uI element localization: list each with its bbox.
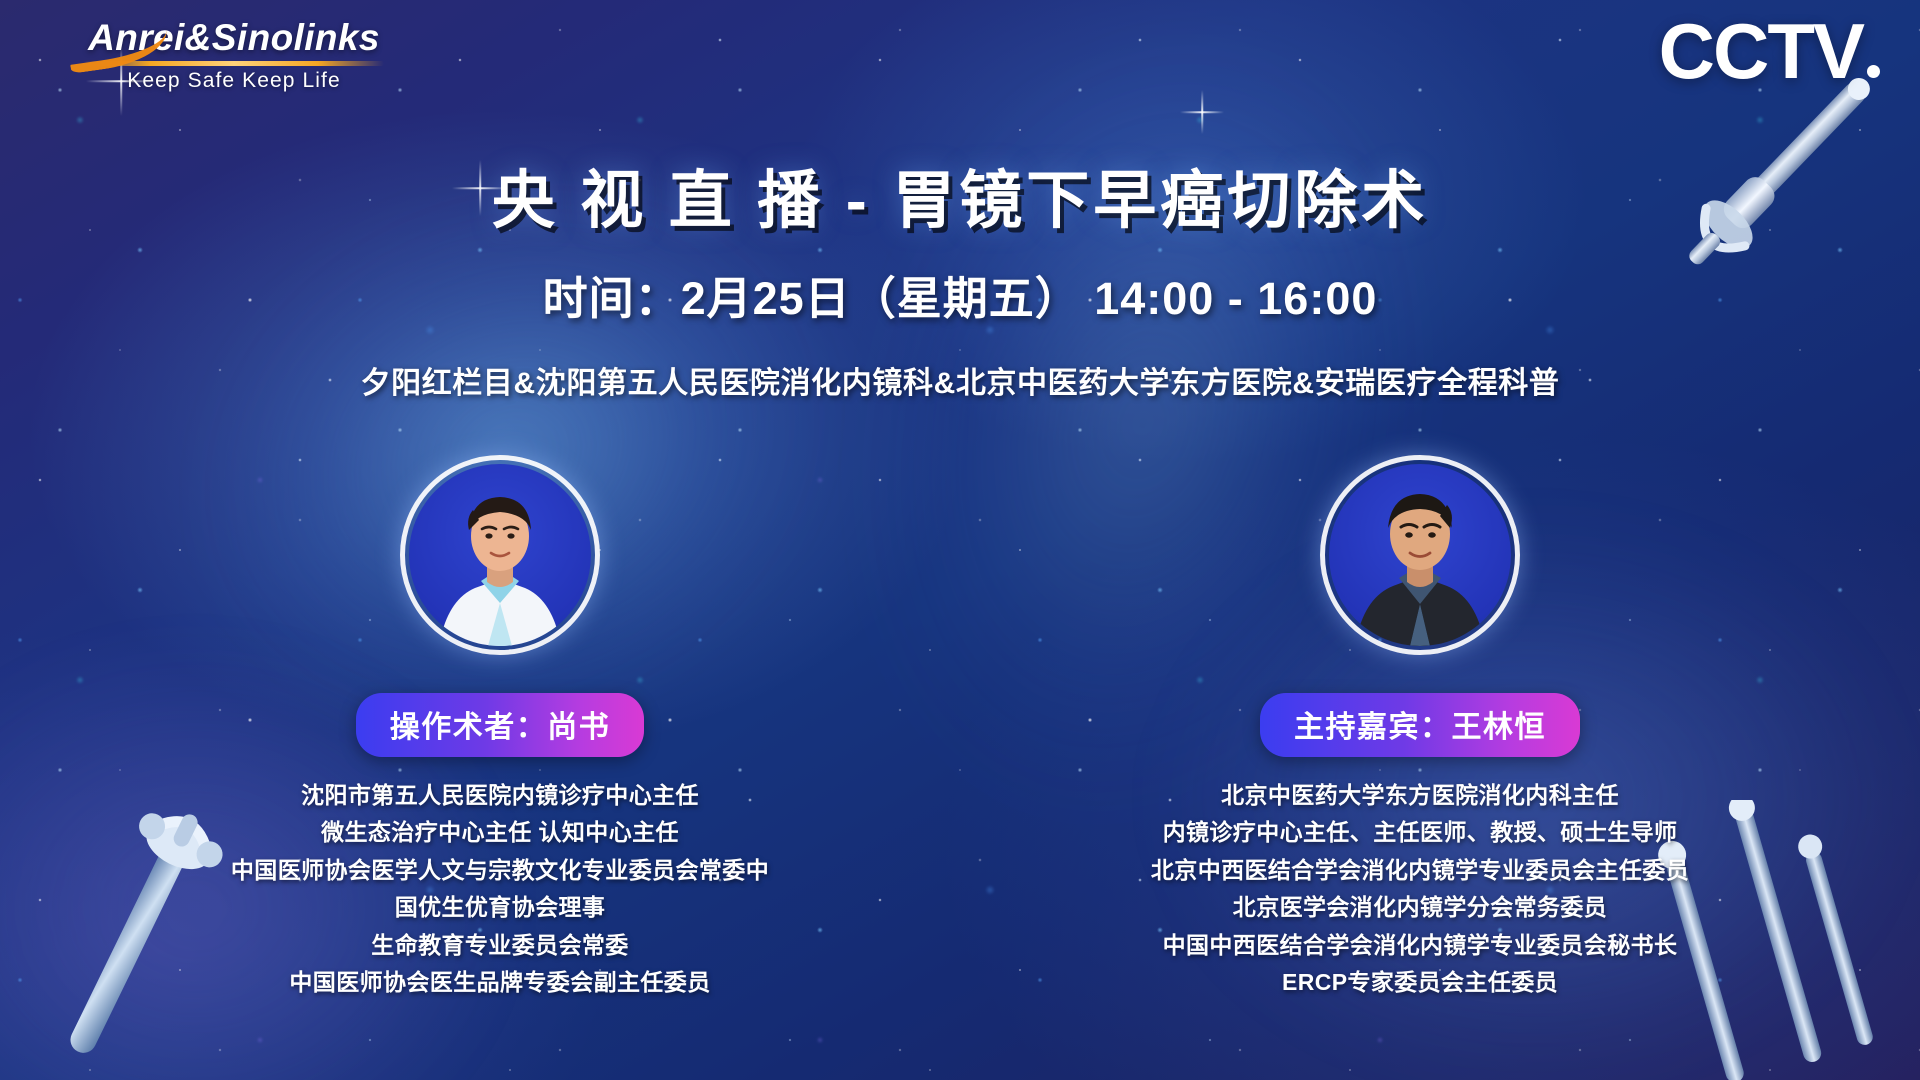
- avatar-photo-operator: [409, 464, 591, 646]
- credential-line: 国优生优育协会理事: [231, 889, 769, 926]
- event-datetime: 时间：2月25日（星期五） 14:00 - 16:00: [0, 262, 1920, 327]
- brand-logo: Anrei&Sinolinks Keep Safe Keep Life: [74, 18, 394, 93]
- credential-line: 微生态治疗中心主任 认知中心主任: [231, 814, 769, 851]
- speaker-card-operator: 操作术者：尚书 沈阳市第五人民医院内镜诊疗中心主任 微生态治疗中心主任 认知中心…: [285, 455, 715, 1002]
- cctv-logo-text: CCTV: [1659, 7, 1863, 95]
- credential-line: 内镜诊疗中心主任、主任医师、教授、硕士生导师: [1151, 814, 1689, 851]
- speakers-section: 操作术者：尚书 沈阳市第五人民医院内镜诊疗中心主任 微生态治疗中心主任 认知中心…: [0, 455, 1920, 1002]
- credentials-operator: 沈阳市第五人民医院内镜诊疗中心主任 微生态治疗中心主任 认知中心主任 中国医师协…: [231, 777, 769, 1002]
- credential-line: 中国医师协会医学人文与宗教文化专业委员会常委中: [231, 852, 769, 889]
- credential-line: 北京医学会消化内镜学分会常务委员: [1151, 889, 1689, 926]
- brand-name: Anrei&Sinolinks: [74, 18, 394, 57]
- cctv-logo: CCTV: [1659, 12, 1880, 90]
- credential-line: 北京中西医结合学会消化内镜学专业委员会主任委员: [1151, 852, 1689, 889]
- speaker-badge-host: 主持嘉宾：王林恒: [1260, 693, 1580, 757]
- credential-line: 生命教育专业委员会常委: [231, 927, 769, 964]
- page-title: 央 视 直 播 - 胃镜下早癌切除术: [0, 150, 1920, 241]
- brand-tagline: Keep Safe Keep Life: [74, 69, 394, 93]
- avatar-photo-host: [1329, 464, 1511, 646]
- speaker-card-host: 主持嘉宾：王林恒 北京中医药大学东方医院消化内科主任 内镜诊疗中心主任、主任医师…: [1205, 455, 1635, 1002]
- sparkle-star-icon: [1180, 90, 1224, 134]
- credential-line: 沈阳市第五人民医院内镜诊疗中心主任: [231, 777, 769, 814]
- credential-line: 中国中西医结合学会消化内镜学专业委员会秘书长: [1151, 927, 1689, 964]
- credentials-host: 北京中医药大学东方医院消化内科主任 内镜诊疗中心主任、主任医师、教授、硕士生导师…: [1151, 777, 1689, 1002]
- credential-line: ERCP专家委员会主任委员: [1151, 964, 1689, 1001]
- poster-canvas: Anrei&Sinolinks Keep Safe Keep Life CCTV…: [0, 0, 1920, 1080]
- speaker-badge-operator: 操作术者：尚书: [356, 693, 645, 757]
- credential-line: 北京中医药大学东方医院消化内科主任: [1151, 777, 1689, 814]
- credential-line: 中国医师协会医生品牌专委会副主任委员: [231, 964, 769, 1001]
- avatar: [400, 455, 600, 655]
- organizers-line: 夕阳红栏目&沈阳第五人民医院消化内镜科&北京中医药大学东方医院&安瑞医疗全程科普: [0, 358, 1920, 402]
- cctv-dot-icon: [1867, 65, 1880, 78]
- avatar: [1320, 455, 1520, 655]
